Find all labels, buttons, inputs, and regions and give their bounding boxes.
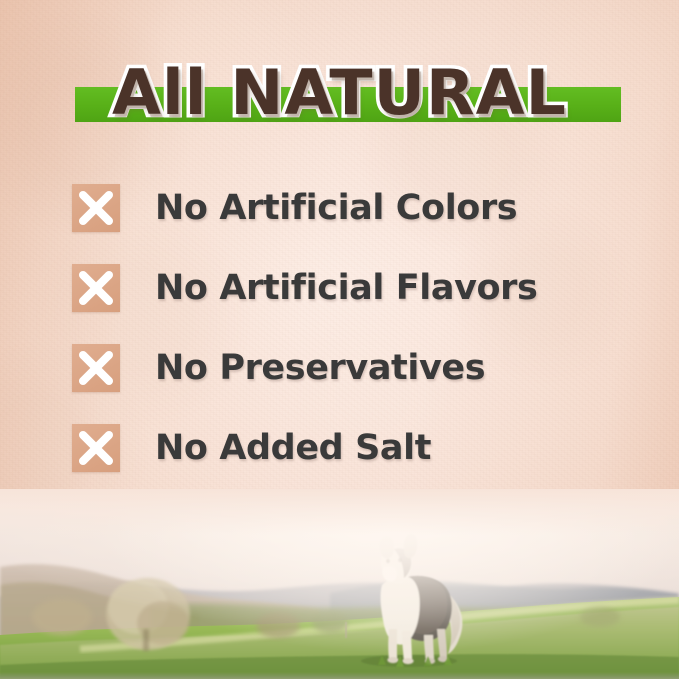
claim-label: No Added Salt <box>155 431 431 466</box>
x-mark-icon <box>72 344 120 392</box>
claim-label: No Preservatives <box>155 351 485 386</box>
x-mark-icon <box>72 264 120 312</box>
all-natural-poster: All NATURAL No Artificial Colors <box>0 0 679 679</box>
claim-item: No Preservatives <box>0 328 679 408</box>
claims-list: No Artificial Colors No Artificial Flavo… <box>0 168 679 488</box>
headline-text: All NATURAL <box>0 48 679 138</box>
claim-item: No Artificial Flavors <box>0 248 679 328</box>
claim-item: No Artificial Colors <box>0 168 679 248</box>
x-mark-icon <box>72 184 120 232</box>
claim-item: No Added Salt <box>0 408 679 488</box>
x-mark-icon <box>72 424 120 472</box>
claim-label: No Artificial Colors <box>155 191 517 226</box>
headline-block: All NATURAL <box>0 48 679 140</box>
claim-label: No Artificial Flavors <box>155 271 537 306</box>
landscape-photo <box>0 489 679 679</box>
